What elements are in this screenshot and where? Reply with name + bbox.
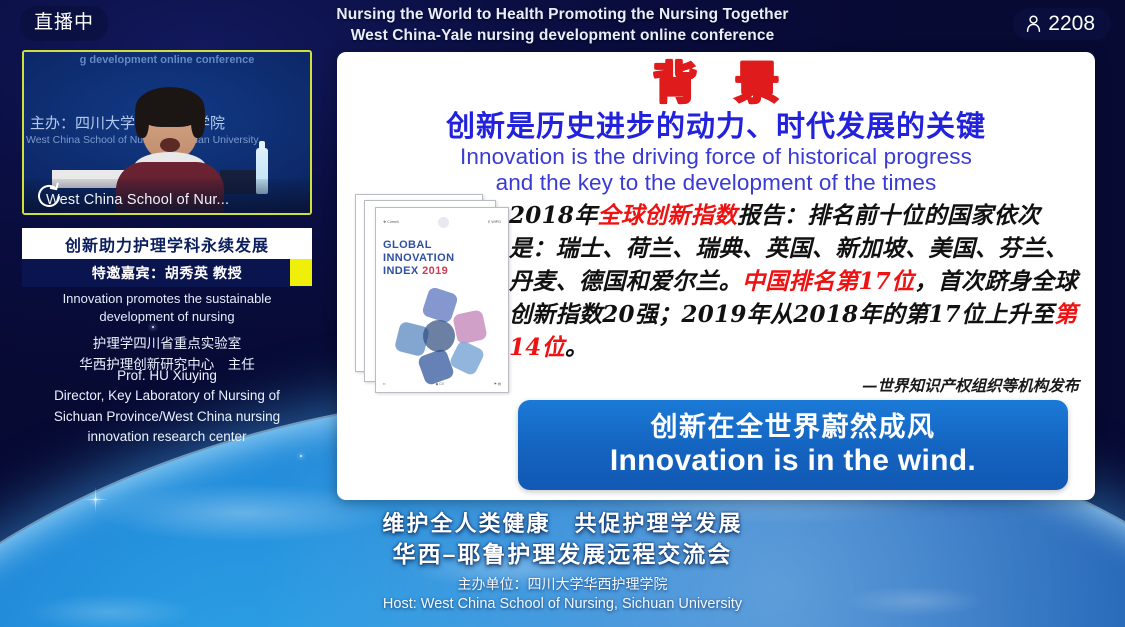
- body-segment-3: 中国排名第17位: [742, 268, 914, 295]
- cover-footer-logos: ▪▪ ◆ CII ⚑ ▤: [383, 382, 501, 386]
- affiliation-en-line-2: Director, Key Laboratory of Nursing of: [14, 386, 320, 406]
- cover-art-shape: [448, 339, 485, 376]
- slide-seal-title: 背 景: [337, 62, 1095, 106]
- speaker-hair-left: [135, 98, 149, 138]
- slide-headline-en-line-1: Innovation is the driving force of histo…: [337, 144, 1095, 171]
- seal-char-background-2: 景: [735, 62, 779, 106]
- cover-title-line-1: GLOBAL: [383, 239, 501, 252]
- video-backdrop-top-text: g development online conference: [24, 54, 310, 66]
- cover-art-shape: [452, 309, 488, 345]
- wipo-logo: ⚲ WIPO: [488, 220, 501, 224]
- presentation-slide[interactable]: 背 景 创新是历史进步的动力、时代发展的关键 Innovation is the…: [337, 52, 1095, 500]
- video-frame: g development online conference 主办：四川大学华…: [24, 52, 310, 213]
- body-segment-1: 全球创新指数: [598, 202, 738, 229]
- speaker-hair-right: [191, 98, 205, 138]
- viewer-count-badge[interactable]: 2208: [1013, 8, 1111, 40]
- cover-art-shape: [423, 320, 455, 352]
- person-icon: [1026, 15, 1041, 32]
- speaker-mouth: [160, 138, 180, 152]
- partner-logo-2: ◆ CII: [436, 382, 444, 386]
- affiliation-cn-line-1: 护理学四川省重点实验室: [14, 334, 320, 355]
- slide-headline-en-line-2: and the key to the development of the ti…: [337, 170, 1095, 197]
- session-subtitle-en: Innovation promotes the sustainable deve…: [18, 290, 316, 327]
- affiliation-en-line-3: Sichuan Province/West China nursing: [14, 407, 320, 427]
- star-decoration: [300, 455, 302, 457]
- session-subtitle-en-line-1: Innovation promotes the sustainable: [18, 290, 316, 308]
- body-segment-6: 。: [565, 334, 588, 361]
- star-decoration: [94, 498, 97, 501]
- live-status-badge: 直播中: [20, 6, 108, 41]
- yellow-accent-block: [290, 259, 312, 286]
- cover-logo-row: ❖ Cornell ⚲ WIPO: [383, 215, 501, 229]
- slide-headline-cn: 创新是历史进步的动力、时代发展的关键: [337, 112, 1095, 144]
- speaker-video-thumbnail[interactable]: g development online conference 主办：四川大学华…: [22, 50, 312, 215]
- slide-body-text: 2018年全球创新指数报告：排名前十位的国家依次是：瑞士、荷兰、瑞典、英国、新加…: [509, 200, 1079, 364]
- affiliation-en-line-1: Prof. HU Xiuying: [14, 366, 320, 386]
- banner-text-cn: 创新在全世界蔚然成风: [651, 412, 936, 442]
- partner-logo-3: ⚑ ▤: [494, 382, 501, 386]
- slide-highlight-banner: 创新在全世界蔚然成风 Innovation is in the wind.: [518, 400, 1068, 490]
- report-cover-stack: ❖ Cornell ⚲ WIPO GLOBAL INNOVATION INDEX…: [355, 194, 525, 394]
- cover-artwork: [395, 290, 489, 384]
- session-title-bar: 创新助力护理学科永续发展: [22, 228, 312, 259]
- cover-title-line-3: INDEX 2019: [383, 265, 501, 278]
- body-segment-0: 2018年: [509, 202, 598, 229]
- live-stream-page: 直播中 Nursing the World to Health Promotin…: [0, 0, 1125, 627]
- affiliation-en-line-4: innovation research center: [14, 427, 320, 447]
- viewer-count-value: 2208: [1048, 13, 1095, 34]
- report-cover-front: ❖ Cornell ⚲ WIPO GLOBAL INNOVATION INDEX…: [375, 207, 509, 393]
- cover-title-line-2: INNOVATION: [383, 252, 501, 265]
- session-guest-bar: 特邀嘉宾：胡秀英 教授: [22, 259, 312, 287]
- video-footer-label: West China School of Nur...: [46, 192, 229, 208]
- banner-text-en: Innovation is in the wind.: [610, 444, 976, 478]
- session-subtitle-en-line-2: development of nursing: [18, 308, 316, 326]
- seal-char-background-1: 背: [653, 62, 697, 106]
- speaker-affiliation-en: Prof. HU Xiuying Director, Key Laborator…: [14, 366, 320, 447]
- cover-title-year: 2019: [422, 265, 448, 277]
- partner-logo-1: ▪▪: [383, 382, 385, 386]
- cover-title-index-word: INDEX: [383, 265, 419, 277]
- insead-logo: [438, 217, 449, 228]
- cover-title: GLOBAL INNOVATION INDEX 2019: [383, 239, 501, 278]
- slide-body-source: —世界知识产权组织等机构发布: [509, 374, 1079, 396]
- slide-header: 背 景 创新是历史进步的动力、时代发展的关键 Innovation is the…: [337, 62, 1095, 197]
- cornell-logo: ❖ Cornell: [383, 220, 399, 224]
